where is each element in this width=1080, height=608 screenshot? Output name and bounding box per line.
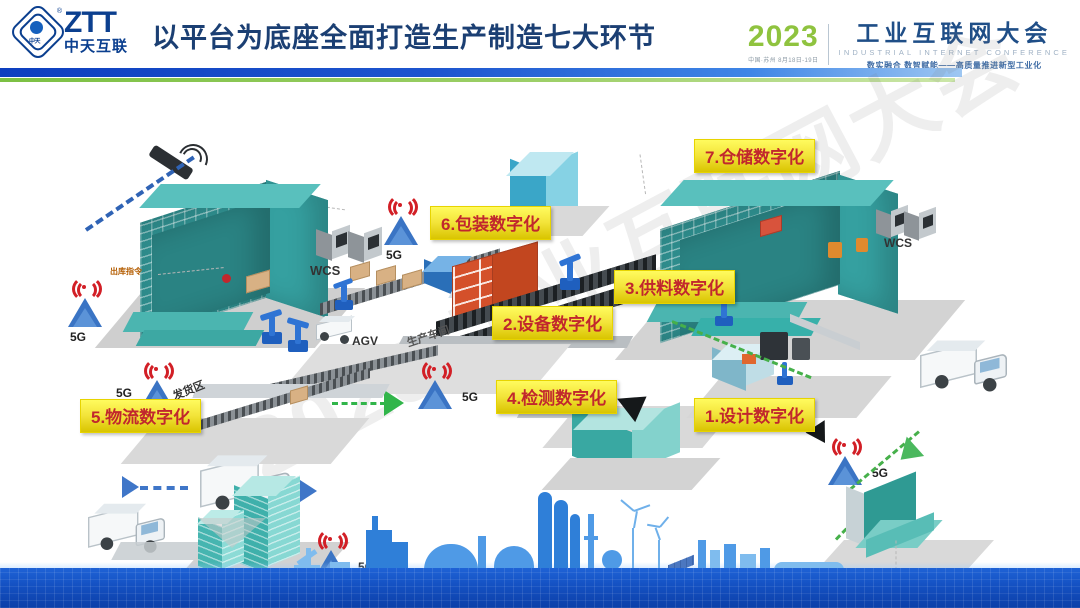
skyline-landmark-2 [554,500,568,570]
forklift-icon-2 [856,238,868,252]
step-label-7[interactable]: 7.仓储数字化 [694,139,815,173]
skyline-dome [424,544,478,570]
ztt-logo: 中天 ® ZTT 中天互联 [14,8,128,54]
tower-shape-icon [384,216,418,245]
warehouse-link-line [640,154,647,194]
tower-label-5g: 5G [70,330,86,344]
warehouse-right-rack-top [660,180,893,206]
registered-mark: ® [57,8,62,15]
label-agv: AGV [352,334,378,348]
skyline-factory-1 [366,530,392,570]
logo-brand-latin: ZTT [64,8,128,38]
skyline-landmark-3 [570,514,580,570]
header-blue-rule [0,68,962,77]
conference-date: 中国·苏州 8月18日-19日 [748,55,819,64]
slide-header: 中天 ® ZTT 中天互联 以平台为底座全面打造生产制造七大环节 2023 中国… [0,0,1080,80]
conference-logo: 2023 中国·苏州 8月18日-19日 工业互联网大会 INDUSTRIAL … [748,22,1070,71]
step-label-6[interactable]: 6.包装数字化 [430,206,551,240]
skyline-tower-thin [478,536,486,570]
inspection-building-floor [542,458,721,490]
skyline-ferris-wheel [602,550,622,570]
warehouse-left-rack-top [139,184,321,208]
logistics-flow-line [140,486,188,490]
supply-route-arrow [892,437,924,470]
logistics-arrow-2 [122,476,139,498]
tower-workshop: 5G [412,360,458,412]
step-label-3[interactable]: 3.供料数字化 [614,270,735,304]
skyline-band [0,568,1080,608]
parcel-on-conveyor [350,261,370,282]
page-title: 以平台为底座全面打造生产制造七大环节 [152,16,656,55]
logo-mark-cn: 中天 [29,36,40,45]
conference-name-en: INDUSTRIAL INTERNET CONFERENCE [839,48,1070,57]
tower-packaging: 5G [378,196,424,248]
label-wcs-right: WCS [884,236,912,250]
step-label-1[interactable]: 1.设计数字化 [694,398,815,432]
skyline-spire [588,514,594,570]
skyline-building-a [698,540,706,570]
flow-line-green [332,402,386,405]
flow-arrow-green [384,390,404,416]
skyline-building-c [724,544,736,570]
skyline-building-e [760,548,770,570]
tower-shape-icon [418,380,452,409]
conference-year: 2023 [748,22,819,52]
forklift-icon [828,242,842,258]
tower-label-5g: 5G [462,390,478,404]
skyline-arch [494,546,534,570]
skyline-factory-2 [392,542,408,570]
signal-wave-icon [74,278,96,298]
design-server-icon [792,338,810,360]
slide-root: 中天 ® ZTT 中天互联 以平台为底座全面打造生产制造七大环节 2023 中国… [0,0,1080,608]
label-outbound-command: 出库指令 [110,266,142,277]
skyline-building-b [710,550,720,570]
signal-wave-icon [834,436,856,456]
tower-label-5g: 5G [386,248,402,262]
conference-name-cn: 工业互联网大会 [839,22,1070,45]
step-label-2[interactable]: 2.设备数字化 [492,306,613,340]
warehouse-left-shuttle-deck [123,312,254,332]
skyline-spire-cross [584,536,598,540]
signal-wave-icon [390,196,412,216]
skyline-landmark-1 [538,492,552,570]
header-green-rule [0,78,955,82]
signal-wave-icon [146,360,168,380]
tower-warehouse-left: 5G [62,278,108,330]
footer-skyline [0,530,1080,608]
skyline-chimney [372,516,378,530]
step-label-4[interactable]: 4.检测数字化 [496,380,617,414]
signal-wave-icon [424,360,446,380]
ztt-logo-mark-icon: 中天 ® [14,8,60,54]
tower-label-5g: 5G [116,386,132,400]
pick-point-marker [222,274,231,283]
logo-brand-cn: 中天互联 [64,39,128,54]
design-workstation-icon [760,332,788,360]
label-wcs-left: WCS [310,263,340,278]
warehouse-left-deck-2 [136,330,265,346]
parcel-on-conveyor [402,269,422,290]
step-label-5[interactable]: 5.物流数字化 [80,399,201,433]
tower-shape-icon [68,298,102,327]
